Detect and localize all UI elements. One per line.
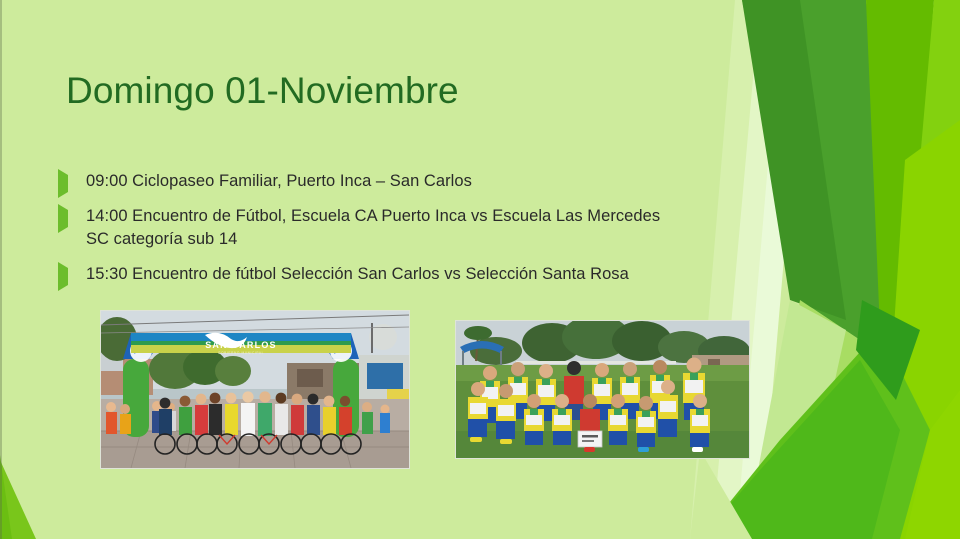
- agenda-item-text: 15:30 Encuentro de fútbol Selección San …: [86, 263, 629, 286]
- photo-cycling: SAN CARLOS GOBIERNO MUNICIPAL: [100, 310, 410, 469]
- svg-text:SAN CARLOS: SAN CARLOS: [205, 340, 277, 350]
- photo-football: [455, 320, 750, 459]
- triangle-right-icon: [58, 268, 70, 281]
- triangle-right-icon: [58, 175, 70, 188]
- agenda-item-text: 14:00 Encuentro de Fútbol, Escuela CA Pu…: [86, 205, 678, 251]
- presentation-slide: Domingo 01-Noviembre 09:00 Ciclopaseo Fa…: [0, 0, 960, 539]
- photo-cycling-graphic: SAN CARLOS GOBIERNO MUNICIPAL: [101, 311, 409, 468]
- photo-football-graphic: [456, 321, 749, 458]
- agenda-item-text: 09:00 Ciclopaseo Familiar, Puerto Inca –…: [86, 170, 472, 193]
- agenda-item: 15:30 Encuentro de fútbol Selección San …: [58, 263, 678, 286]
- agenda-list: 09:00 Ciclopaseo Familiar, Puerto Inca –…: [58, 170, 678, 298]
- slide-title: Domingo 01-Noviembre: [66, 68, 459, 114]
- svg-text:GOBIERNO MUNICIPAL: GOBIERNO MUNICIPAL: [218, 351, 264, 355]
- agenda-item: 09:00 Ciclopaseo Familiar, Puerto Inca –…: [58, 170, 678, 193]
- agenda-item: 14:00 Encuentro de Fútbol, Escuela CA Pu…: [58, 205, 678, 251]
- triangle-right-icon: [58, 210, 70, 223]
